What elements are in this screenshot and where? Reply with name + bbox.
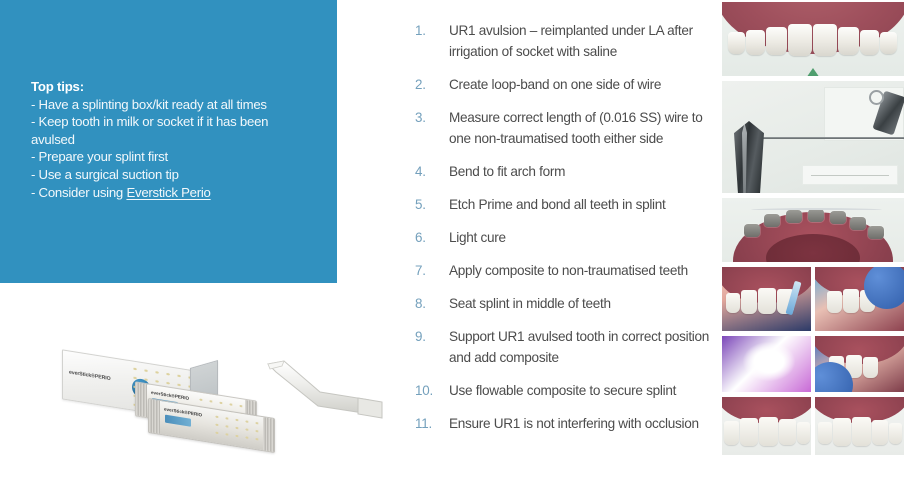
tooth-shape — [818, 422, 832, 444]
tooth-shape — [779, 419, 796, 445]
stainless-wire — [752, 137, 904, 139]
splint-arch-wire — [751, 208, 882, 212]
final-splint-front-image: Completed splint frontal view — [722, 397, 811, 455]
step-item: 5. Etch Prime and bond all teeth in spli… — [411, 194, 716, 215]
tooth-shape — [766, 27, 787, 55]
step-text: UR1 avulsion – reimplanted under LA afte… — [449, 20, 716, 62]
top-tips-item-link-line: - Consider using Everstick Perio — [31, 184, 316, 202]
final-splint-close-image: Completed splint close-up view — [815, 397, 904, 455]
step-number: 1. — [411, 20, 449, 41]
tooth-shape — [758, 288, 776, 314]
step-text: Seat splint in middle of teeth — [449, 293, 716, 314]
image-row: Curing light activating composite Compos… — [722, 336, 904, 392]
carton-brand-label: everStick®PERIO — [69, 370, 111, 383]
step-item: 2. Create loop-band on one side of wire — [411, 74, 716, 95]
step-text: Light cure — [449, 227, 716, 248]
tooth-shape — [827, 291, 842, 313]
tooth-shape-ur1 — [788, 24, 812, 56]
step-item: 6. Light cure — [411, 227, 716, 248]
step-text: Use flowable composite to secure splint — [449, 380, 716, 401]
top-tips-link-prefix: - Consider using — [31, 185, 126, 200]
product-photo: everStick®PERIO everStick®PERIO everStic… — [40, 346, 400, 466]
top-tips-item: - Have a splinting box/kit ready at all … — [31, 96, 316, 114]
top-tips-content: Top tips: - Have a splinting box/kit rea… — [31, 78, 316, 201]
tooth-shape — [872, 420, 888, 445]
slide-canvas: Top tips: - Have a splinting box/kit rea… — [0, 0, 904, 498]
image-row: Upper anterior teeth with green arrow in… — [722, 2, 904, 76]
clinical-image-strip: Upper anterior teeth with green arrow in… — [722, 2, 904, 496]
step-number: 2. — [411, 74, 449, 95]
step-text: Support UR1 avulsed tooth in correct pos… — [449, 326, 716, 368]
step-number: 3. — [411, 107, 449, 128]
wire-loop-icon — [869, 90, 884, 105]
occlusal-tooth — [764, 214, 780, 227]
pliers-icon — [734, 121, 764, 193]
step-item: 10. Use flowable composite to secure spl… — [411, 380, 716, 401]
etch-application-image: Etchant applied to labial surfaces of te… — [722, 267, 811, 331]
tooth-shape — [741, 290, 757, 314]
sachet-crimp-left — [149, 399, 160, 434]
step-number: 7. — [411, 260, 449, 281]
sachet-tooth-pattern — [214, 413, 262, 446]
top-tips-panel: Top tips: - Have a splinting box/kit rea… — [0, 0, 337, 283]
occlusal-tooth — [868, 226, 884, 239]
top-tips-item: - Keep tooth in milk or socket if it has… — [31, 113, 316, 131]
step-text: Measure correct length of (0.016 SS) wir… — [449, 107, 716, 149]
step-text: Create loop-band on one side of wire — [449, 74, 716, 95]
light-curing-image: Curing light activating composite — [722, 336, 811, 392]
step-item: 4. Bend to fit arch form — [411, 161, 716, 182]
top-tips-item: avulsed — [31, 131, 316, 149]
step-number: 9. — [411, 326, 449, 347]
procedure-step-list: 1. UR1 avulsion – reimplanted under LA a… — [371, 0, 716, 498]
tooth-shape — [728, 32, 745, 54]
tooth-shape — [860, 30, 879, 55]
occlusal-tooth — [850, 217, 866, 230]
step-item: 8. Seat splint in middle of teeth — [411, 293, 716, 314]
image-row: Completed splint frontal view Completed … — [722, 397, 904, 455]
occlusal-tooth — [744, 224, 760, 237]
step-item: 1. UR1 avulsion – reimplanted under LA a… — [411, 20, 716, 62]
palatal-splint-view-image: Palatal view of arch with splint wire in… — [722, 198, 904, 262]
top-tips-item: - Prepare your splint first — [31, 148, 316, 166]
pliers-wire-bending-image: Pliers bending stainless steel wire with… — [722, 81, 904, 193]
step-number: 11. — [411, 413, 449, 434]
composite-placement-image: Composite placed over splint wire — [815, 336, 904, 392]
step-number: 8. — [411, 293, 449, 314]
step-number: 4. — [411, 161, 449, 182]
curing-light-glow — [743, 342, 795, 381]
avulsion-diagram-image: Upper anterior teeth with green arrow in… — [722, 2, 904, 76]
step-number: 5. — [411, 194, 449, 215]
step-number: 6. — [411, 227, 449, 248]
top-tips-item: - Use a surgical suction tip — [31, 166, 316, 184]
tooth-shape — [843, 289, 859, 313]
tooth-shape — [759, 417, 778, 446]
tooth-shape — [797, 422, 810, 444]
tooth-shape — [813, 24, 837, 56]
top-tips-heading: Top tips: — [31, 78, 316, 96]
measuring-scale — [802, 165, 898, 185]
tooth-shape — [833, 418, 851, 446]
step-text: Etch Prime and bond all teeth in splint — [449, 194, 716, 215]
step-item: 3. Measure correct length of (0.016 SS) … — [411, 107, 716, 149]
surgical-suction-tip-icon — [262, 356, 387, 426]
tooth-shape — [838, 27, 859, 55]
step-text: Bend to fit arch form — [449, 161, 716, 182]
step-number: 10. — [411, 380, 449, 401]
step-text: Ensure UR1 is not interfering with occlu… — [449, 413, 716, 434]
image-row: Etchant applied to labial surfaces of te… — [722, 267, 904, 331]
tooth-shape — [724, 421, 739, 445]
image-row: Palatal view of arch with splint wire in… — [722, 198, 904, 262]
tooth-shape — [740, 418, 758, 446]
sachet-blue-bar — [165, 415, 191, 427]
everstick-perio-link[interactable]: Everstick Perio — [126, 185, 210, 200]
occlusal-tooth — [830, 211, 846, 224]
tooth-shape — [726, 293, 740, 313]
tooth-shape — [852, 417, 871, 446]
sachet-crimp-left — [136, 382, 147, 417]
tooth-shape — [863, 357, 878, 378]
tooth-shape — [746, 30, 765, 55]
tooth-shape — [889, 423, 902, 444]
bonding-application-image: Bonding agent applied to splinted teeth — [815, 267, 904, 331]
step-item: 11. Ensure UR1 is not interfering with o… — [411, 413, 716, 434]
step-item: 7. Apply composite to non-traumatised te… — [411, 260, 716, 281]
step-item: 9. Support UR1 avulsed tooth in correct … — [411, 326, 716, 368]
step-text: Apply composite to non-traumatised teeth — [449, 260, 716, 281]
tooth-shape — [880, 32, 897, 54]
image-row: Pliers bending stainless steel wire with… — [722, 81, 904, 193]
